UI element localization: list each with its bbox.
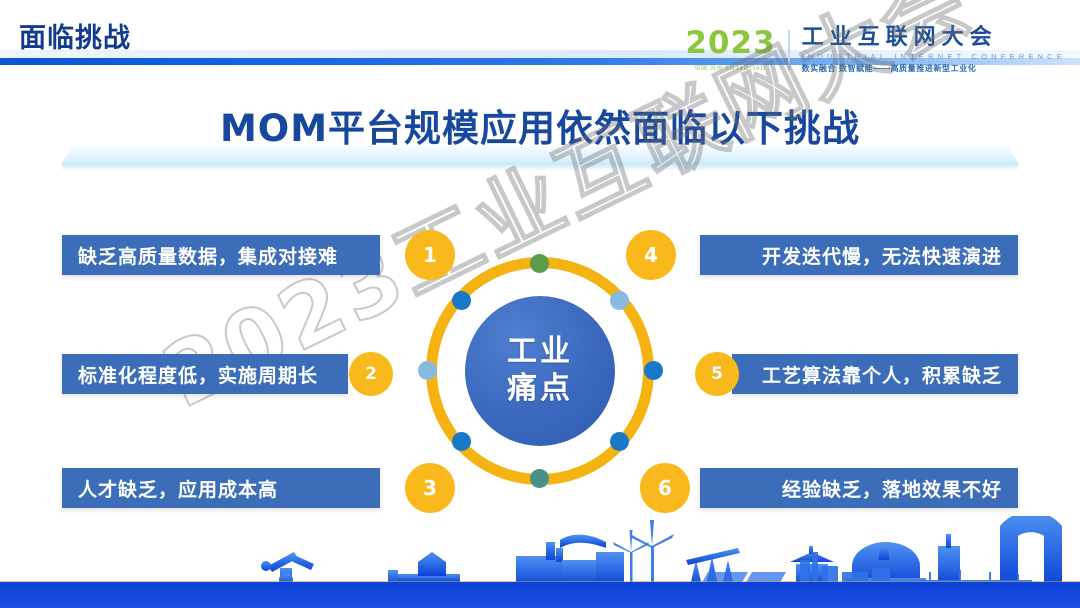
logo-year-block: 2023 中国·苏州 8月14日-16日 [685,28,787,72]
challenge-number-4: 4 [644,243,658,267]
center-core-circle: 工业 痛点 [465,296,615,446]
ring-dot-lower-right [610,432,629,451]
challenge-number-6: 6 [658,476,672,500]
logo-tagline: 数实融合 数智赋能——高质量推进新型工业化 [802,63,1066,74]
challenge-text-3: 人才缺乏，应用成本高 [78,475,278,502]
challenge-badge-3[interactable]: 3 [405,463,455,513]
ring-dot-bottom-teal [530,469,549,488]
logo-year: 2023 [685,28,775,59]
logo-name-en: INDUSTRIAL INTERNET CONFERENCE [802,52,1066,61]
challenge-text-1: 缺乏高质量数据，集成对接难 [78,242,338,269]
conference-logo: 2023 中国·苏州 8月14日-16日 工业互联网大会 INDUSTRIAL … [685,24,1066,76]
challenge-bar-3[interactable]: 人才缺乏，应用成本高 [62,468,380,508]
footer-decoration [0,516,1080,608]
footer-ground-band [0,582,1080,608]
challenge-badge-5[interactable]: 5 [695,352,739,396]
logo-name-block: 工业互联网大会 INDUSTRIAL INTERNET CONFERENCE 数… [802,26,1066,73]
slide-root: 面临挑战 2023 中国·苏州 8月14日-16日 工业互联网大会 INDUST… [0,0,1080,608]
challenge-badge-6[interactable]: 6 [640,463,690,513]
challenge-badge-1[interactable]: 1 [405,230,455,280]
center-label-line1: 工业 [507,334,573,371]
challenge-bar-6[interactable]: 经验缺乏，落地效果不好 [700,468,1018,508]
energy-skyline-icon [0,516,1080,586]
challenge-badge-4[interactable]: 4 [626,230,676,280]
challenge-text-6: 经验缺乏，落地效果不好 [782,475,1002,502]
challenge-number-3: 3 [423,476,437,500]
ring-dot-top-green [530,254,549,273]
center-diagram: 工业 痛点 [404,235,676,507]
center-label-line2: 痛点 [507,371,573,408]
challenge-number-2: 2 [365,364,377,384]
logo-name-cn: 工业互联网大会 [802,26,1066,49]
logo-year-subtitle: 中国·苏州 8月14日-16日 [695,63,767,72]
challenge-text-5: 工艺算法靠个人，积累缺乏 [762,361,1002,388]
main-title: MOM平台规模应用依然面临以下挑战 [0,98,1080,152]
challenge-text-2: 标准化程度低，实施周期长 [78,361,318,388]
challenge-bar-2[interactable]: 标准化程度低，实施周期长 [62,354,348,394]
challenge-number-1: 1 [423,243,437,267]
challenge-bar-4[interactable]: 开发迭代慢，无法快速演进 [700,235,1018,275]
ring-dot-left [418,361,437,380]
challenge-text-4: 开发迭代慢，无法快速演进 [762,242,1002,269]
title-shelf-glow [62,163,1018,171]
ring-dot-lower-left [452,432,471,451]
challenge-badge-2[interactable]: 2 [349,352,393,396]
challenge-bar-5[interactable]: 工艺算法靠个人，积累缺乏 [732,354,1018,394]
logo-divider [788,30,790,70]
ring-dot-upper-right [610,291,629,310]
challenge-number-5: 5 [711,364,723,384]
ring-dot-upper-left [452,291,471,310]
ring-dot-right [644,361,663,380]
challenge-bar-1[interactable]: 缺乏高质量数据，集成对接难 [62,235,380,275]
